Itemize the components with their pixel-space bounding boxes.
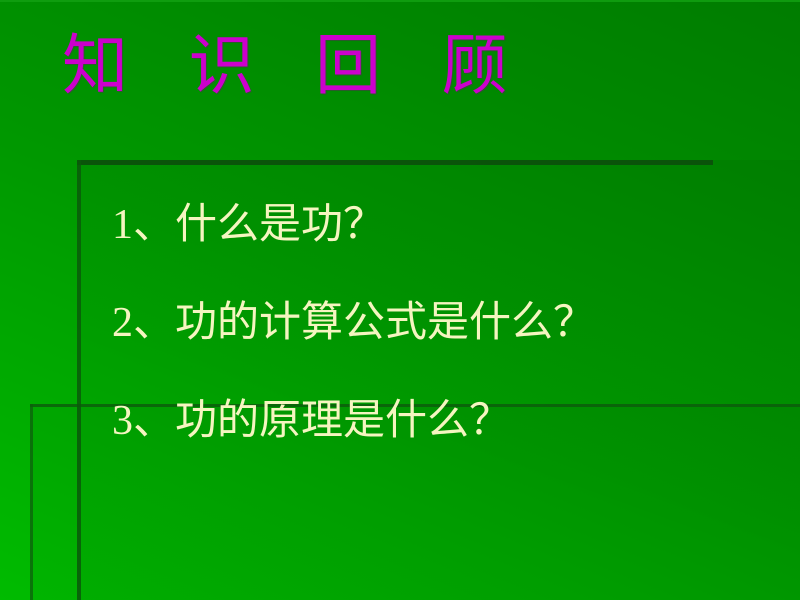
slide-title: 知 识 回 顾: [62, 28, 530, 106]
content-panel-primary-top-border: [77, 160, 713, 165]
presentation-slide: 知 识 回 顾 1、什么是功？ 2、功的计算公式是什么？ 3、功的原理是什么？: [0, 0, 800, 600]
top-edge-highlight: [0, 0, 800, 2]
content-panel-secondary-left-border: [30, 404, 33, 600]
question-list: 1、什么是功？ 2、功的计算公式是什么？ 3、功的原理是什么？: [112, 176, 792, 470]
question-item-1: 1、什么是功？: [112, 176, 792, 274]
question-item-3: 3、功的原理是什么？: [112, 372, 792, 470]
question-item-2: 2、功的计算公式是什么？: [112, 274, 792, 372]
